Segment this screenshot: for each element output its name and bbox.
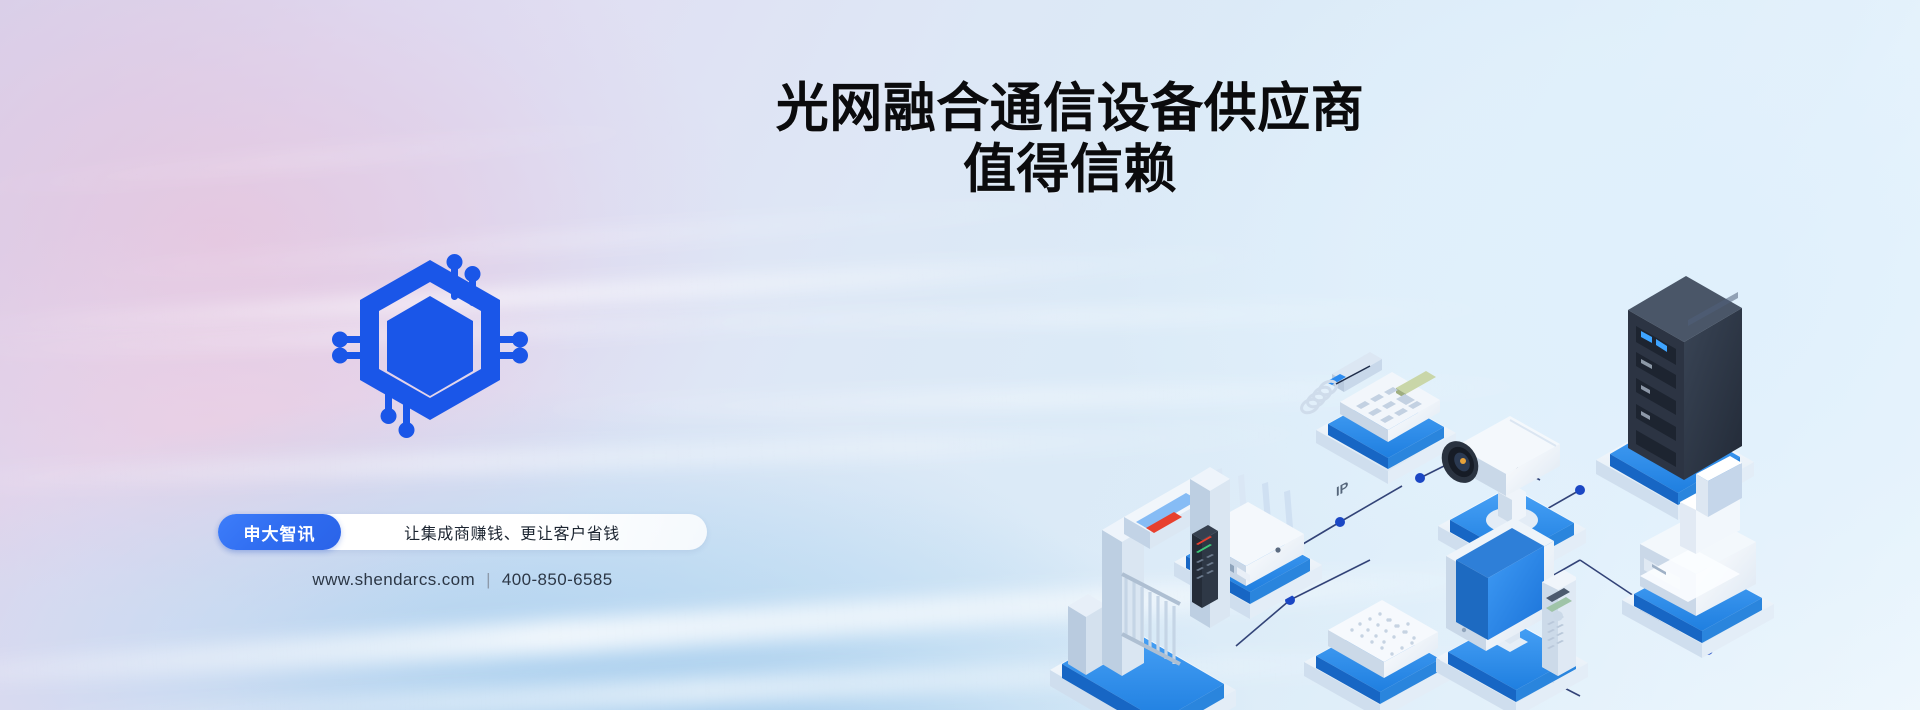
brand-badge-row: 申大智讯 让集成商赚钱、更让客户省钱	[218, 514, 707, 550]
ip-speaker-device: IP	[1304, 478, 1452, 710]
brand-name-pill: 申大智讯	[218, 514, 341, 550]
security-gate-device	[1050, 467, 1236, 710]
hexagon-circuit-logo	[330, 252, 530, 452]
cordless-handset-device	[1542, 570, 1576, 676]
contact-separator: |	[486, 570, 491, 590]
ip-speaker-label: IP	[1336, 478, 1348, 500]
brand-tagline: 让集成商赚钱、更让客户省钱	[341, 520, 707, 544]
desk-phone-device	[1299, 352, 1456, 484]
contact-line: www.shendarcs.com | 400-850-6585	[218, 570, 707, 590]
phone-text[interactable]: 400-850-6585	[502, 570, 613, 590]
website-text[interactable]: www.shendarcs.com	[312, 570, 475, 590]
promo-banner: 光网融合通信设备供应商 值得信赖	[0, 0, 1920, 710]
isometric-network-illustration: IP	[1040, 130, 1920, 710]
